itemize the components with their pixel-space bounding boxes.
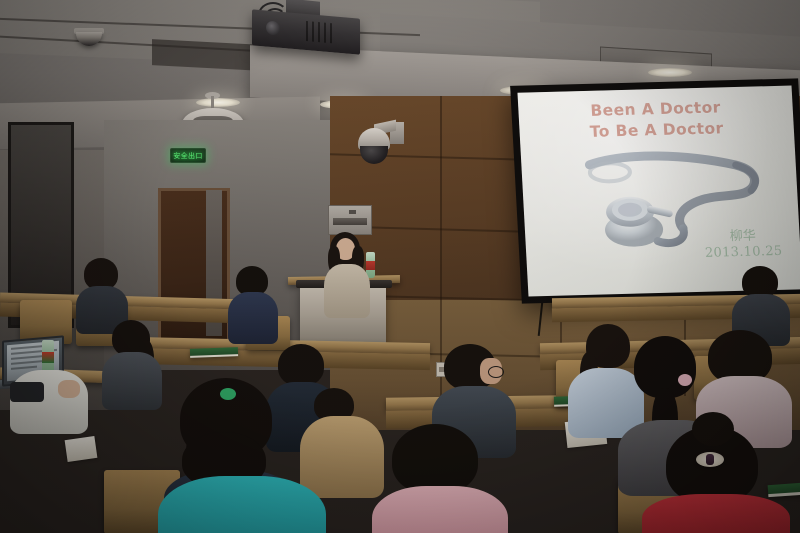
downlight-4 [648, 68, 692, 77]
wall-control-panel[interactable] [328, 205, 372, 235]
slide-title: Been A Doctor To Be A Doctor [518, 96, 794, 145]
eyeglasses [488, 366, 504, 378]
wall-seam-v1 [440, 96, 442, 396]
projector-lens-icon [266, 21, 280, 36]
exit-sign-label: 安全出口 [173, 151, 203, 161]
slide-signature: 柳华 2013.10.25 [704, 227, 783, 261]
water-bottle[interactable] [42, 340, 54, 374]
notebook-far-right[interactable] [768, 483, 800, 497]
notebook-left[interactable] [190, 347, 238, 358]
projected-slide: Been A Doctor To Be A Doctor 柳华 2013.10.… [517, 86, 800, 297]
pink-hair-tie [678, 374, 692, 386]
lecture-hall-photo: 安全出口 [0, 0, 800, 533]
bow-hair-accessory [696, 452, 724, 467]
green-hair-tie [220, 388, 236, 400]
slide-date: 2013.10.25 [705, 244, 783, 262]
downlight-1 [196, 98, 240, 107]
handout-papers-left[interactable] [65, 436, 98, 462]
hair-bun [692, 412, 734, 446]
exit-sign: 安全出口 [170, 148, 206, 163]
presenter-name: 柳华 [704, 227, 782, 245]
